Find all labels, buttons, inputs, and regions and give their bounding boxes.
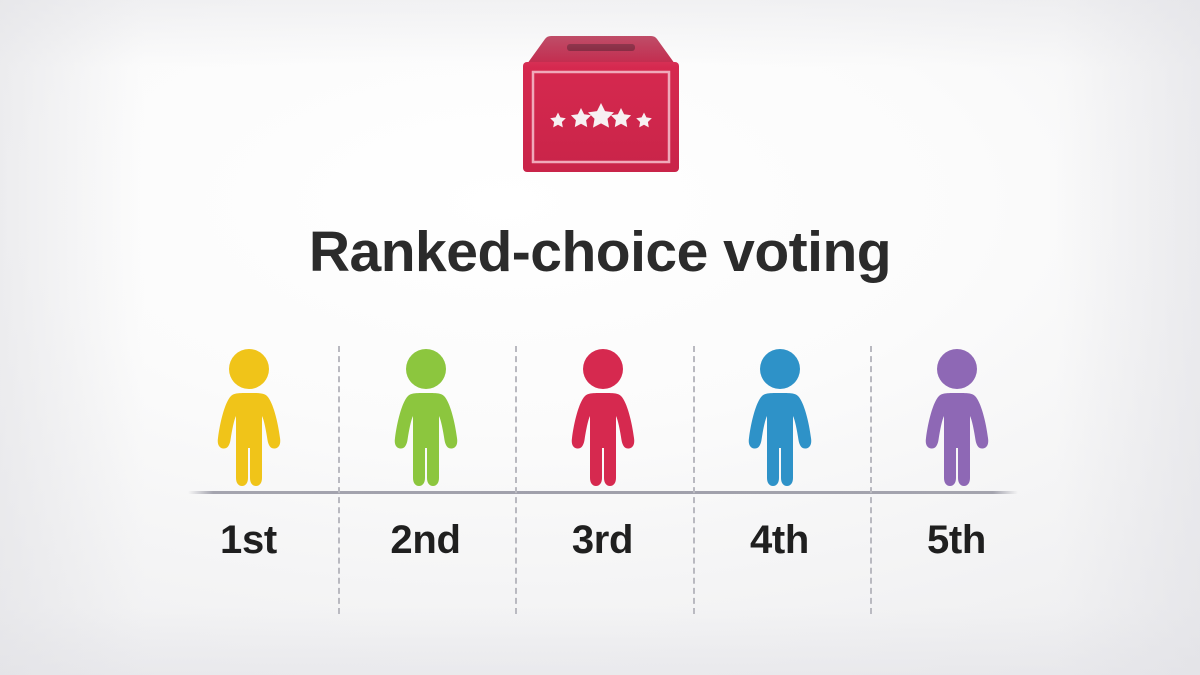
- column-divider-2: [515, 346, 517, 614]
- column-divider-3: [693, 346, 695, 614]
- person-icon: [514, 336, 691, 488]
- ranking-row: 1st 2nd: [160, 336, 1046, 626]
- column-divider-4: [870, 346, 872, 614]
- person-icon: [337, 336, 514, 488]
- rank-label-4: 4th: [691, 518, 868, 563]
- slide-canvas: Ranked-choice voting 1st: [0, 0, 1200, 675]
- rank-column-5[interactable]: 5th: [868, 336, 1045, 626]
- rank-column-4[interactable]: 4th: [691, 336, 868, 626]
- page-title: Ranked-choice voting: [0, 219, 1200, 285]
- ballot-box-icon: [505, 28, 697, 180]
- person-icon: [691, 336, 868, 488]
- rank-column-3[interactable]: 3rd: [514, 336, 691, 626]
- person-icon: [868, 336, 1045, 488]
- column-divider-1: [338, 346, 340, 614]
- axis-baseline: [188, 491, 1018, 494]
- rank-label-1: 1st: [160, 518, 337, 563]
- rank-column-2[interactable]: 2nd: [337, 336, 514, 626]
- rank-label-5: 5th: [868, 518, 1045, 563]
- person-icon: [160, 336, 337, 488]
- rank-label-2: 2nd: [337, 518, 514, 563]
- rank-label-3: 3rd: [514, 518, 691, 563]
- ballot-slot: [567, 44, 635, 51]
- rank-column-1[interactable]: 1st: [160, 336, 337, 626]
